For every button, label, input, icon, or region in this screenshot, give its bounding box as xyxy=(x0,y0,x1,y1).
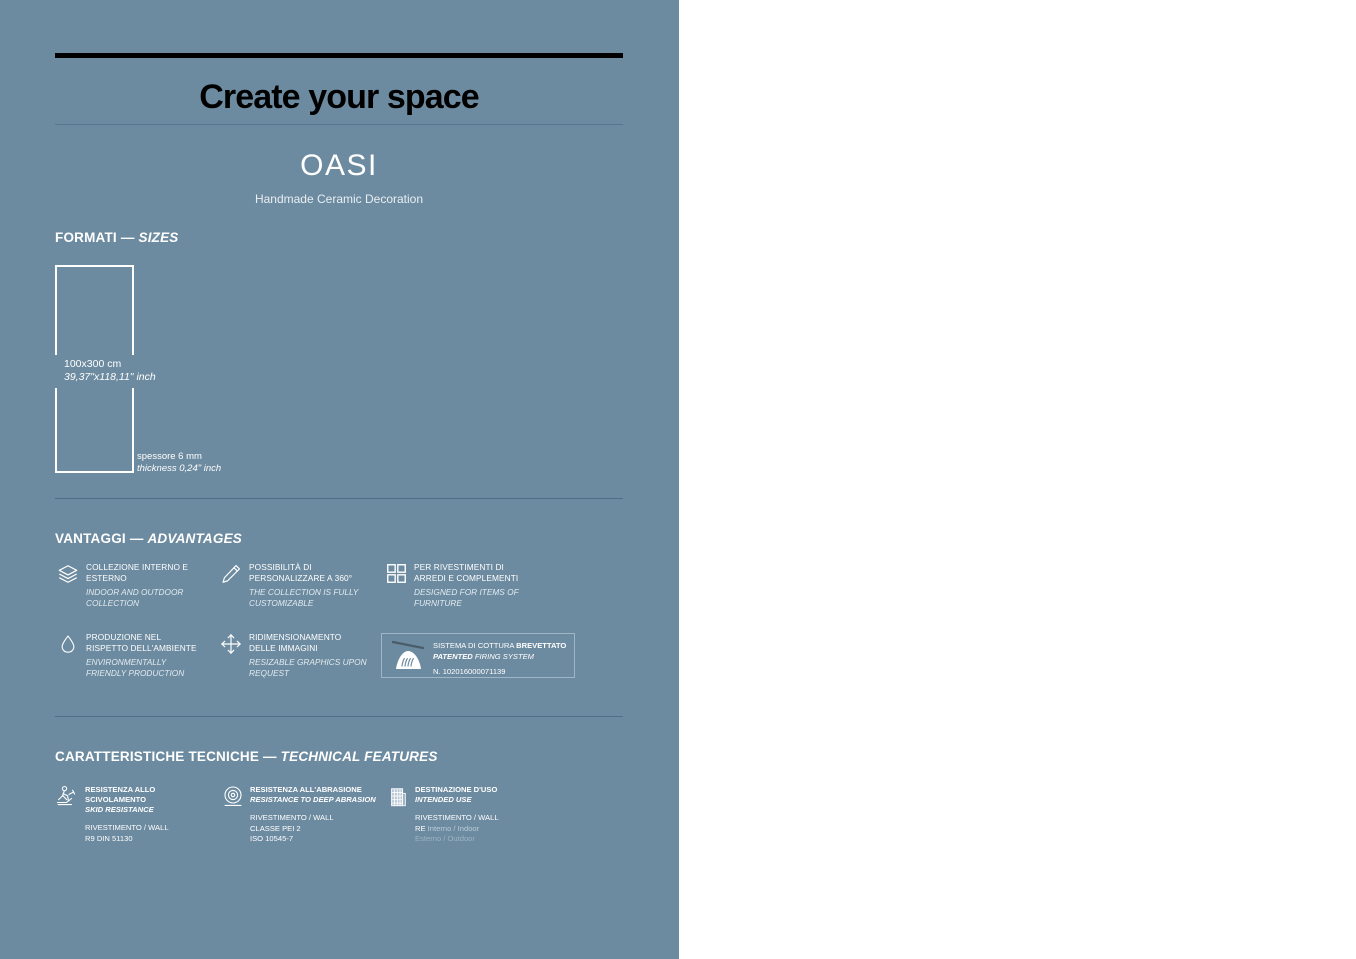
tile-size-diagram: 100x300 cm 39,37"x118,11" inch spessore … xyxy=(55,265,305,475)
advantage-text-environment: PRODUZIONE NEL RISPETTO DELL'AMBIENTE EN… xyxy=(86,632,235,678)
technical-body-line-2: CLASSE PEI 2 xyxy=(250,824,395,835)
patented-firing-system-text: SISTEMA DI COTTURA BREVETTATO PATENTED F… xyxy=(433,641,566,678)
layers-icon xyxy=(55,563,81,591)
patent-en-bold: PATENTED xyxy=(433,652,473,661)
technical-indoor-text: Interno / Indoor xyxy=(426,824,480,833)
four-squares-icon xyxy=(383,563,409,591)
technical-re-prefix: RE xyxy=(415,824,426,833)
advantage-it-line1: COLLEZIONE INTERNO E xyxy=(86,562,235,573)
technical-text-intended-use: DESTINAZIONE D'USO INTENDED USE RIVESTIM… xyxy=(415,785,560,845)
technical-outdoor-text: Esterno / Outdoor xyxy=(415,834,560,845)
building-icon xyxy=(385,785,411,813)
technical-item-skid-resistance: RESISTENZA ALLO SCIVOLAMENTO SKID RESIST… xyxy=(55,785,230,844)
tile-thickness-label: spessore 6 mm thickness 0,24" inch xyxy=(137,451,221,475)
technical-it-line1: RESISTENZA ALL'ABRASIONE xyxy=(250,785,395,795)
section-header-technical: CARATTERISTICHE TECNICHE — TECHNICAL FEA… xyxy=(55,749,438,764)
left-info-panel: Create your space OASI Handmade Ceramic … xyxy=(0,0,679,959)
patented-firing-system-box: SISTEMA DI COTTURA BREVETTATO PATENTED F… xyxy=(381,633,575,678)
technical-en-line1: INTENDED USE xyxy=(415,795,560,805)
patent-line-en: PATENTED FIRING SYSTEM xyxy=(433,652,566,663)
advantage-text-furniture: PER RIVESTIMENTI DI ARREDI E COMPLEMENTI… xyxy=(414,562,563,608)
collection-name: OASI xyxy=(55,148,623,184)
technical-body-abrasion: RIVESTIMENTO / WALL CLASSE PEI 2 ISO 105… xyxy=(250,813,395,845)
advantage-item-resizable: RIDIMENSIONAMENTO DELLE IMMAGINI RESIZAB… xyxy=(218,632,398,678)
skid-resistance-icon xyxy=(55,785,81,813)
advantage-en-line2: CUSTOMIZABLE xyxy=(249,598,398,609)
divider-rule-advantages xyxy=(55,498,623,499)
kiln-icon xyxy=(389,638,429,674)
section-header-advantages-dash: — xyxy=(130,531,144,546)
divider-rule-technical xyxy=(55,716,623,717)
technical-en-line1: SKID RESISTANCE xyxy=(85,805,230,815)
advantage-item-environment: PRODUZIONE NEL RISPETTO DELL'AMBIENTE EN… xyxy=(55,632,235,678)
technical-body-line-2: R9 DIN 51130 xyxy=(85,834,230,845)
advantage-it-line1: PRODUZIONE NEL xyxy=(86,632,235,643)
technical-body-line-indoor: RE Interno / Indoor xyxy=(415,824,560,835)
right-product-page: 1 rivestimento / wall cod. 0145688 2 riv… xyxy=(679,0,1356,959)
section-header-sizes-dash: — xyxy=(121,230,135,245)
technical-body-intended-use: RIVESTIMENTO / WALL RE Interno / Indoor … xyxy=(415,813,560,845)
section-header-sizes-en: SIZES xyxy=(139,230,179,245)
advantage-it-line2: PERSONALIZZARE A 360° xyxy=(249,573,398,584)
advantage-it-line1: PER RIVESTIMENTI DI xyxy=(414,562,563,573)
advantage-item-customizable: POSSIBILITÀ DI PERSONALIZZARE A 360° THE… xyxy=(218,562,398,608)
section-header-advantages: VANTAGGI — ADVANTAGES xyxy=(55,531,242,546)
pencil-icon xyxy=(218,563,244,591)
collection-subtitle: Handmade Ceramic Decoration xyxy=(55,191,623,207)
advantage-it-line1: RIDIMENSIONAMENTO xyxy=(249,632,398,643)
advantage-it-line2: ESTERNO xyxy=(86,573,235,584)
technical-body-line-3: ISO 10545-7 xyxy=(250,834,395,845)
resize-arrows-icon xyxy=(218,633,244,661)
technical-it-line1: DESTINAZIONE D'USO xyxy=(415,785,560,795)
tile-outline-upper xyxy=(55,265,134,355)
tile-thickness-mm: spessore 6 mm xyxy=(137,451,221,463)
tile-dimension-cm: 100x300 cm xyxy=(64,358,156,371)
technical-body-line-1: RIVESTIMENTO / WALL xyxy=(85,823,230,834)
patent-it-bold: BREVETTATO xyxy=(516,641,566,650)
advantage-en-line1: INDOOR AND OUTDOOR xyxy=(86,587,235,598)
tile-thickness-inch: thickness 0,24" inch xyxy=(137,463,221,475)
advantage-en-line2: FURNITURE xyxy=(414,598,563,609)
advantage-en-line2: FRIENDLY PRODUCTION xyxy=(86,668,235,679)
advantage-en-line1: DESIGNED FOR ITEMS OF xyxy=(414,587,563,598)
tile-outline-lower xyxy=(55,388,134,473)
advantage-en-line2: COLLECTION xyxy=(86,598,235,609)
technical-it-line2: SCIVOLAMENTO xyxy=(85,795,230,805)
title-bottom-rule xyxy=(55,124,623,125)
page-title: Create your space xyxy=(55,76,623,118)
advantage-it-line2: ARREDI E COMPLEMENTI xyxy=(414,573,563,584)
technical-body-skid: RIVESTIMENTO / WALL R9 DIN 51130 xyxy=(85,823,230,844)
advantage-item-furniture: PER RIVESTIMENTI DI ARREDI E COMPLEMENTI… xyxy=(383,562,563,608)
section-header-technical-it: CARATTERISTICHE TECNICHE xyxy=(55,749,259,764)
technical-it-line1: RESISTENZA ALLO xyxy=(85,785,230,795)
advantage-text-resizable: RIDIMENSIONAMENTO DELLE IMMAGINI RESIZAB… xyxy=(249,632,398,678)
technical-text-skid-resistance: RESISTENZA ALLO SCIVOLAMENTO SKID RESIST… xyxy=(85,785,230,844)
patent-it-prefix: SISTEMA DI COTTURA xyxy=(433,641,516,650)
technical-en-line1: RESISTANCE TO DEEP ABRASION xyxy=(250,795,395,805)
section-header-technical-en: TECHNICAL FEATURES xyxy=(281,749,438,764)
catalog-page-spread: Create your space OASI Handmade Ceramic … xyxy=(0,0,1356,959)
tile-dimension-label: 100x300 cm 39,37"x118,11" inch xyxy=(64,358,156,384)
section-header-advantages-it: VANTAGGI xyxy=(55,531,126,546)
abrasion-target-icon xyxy=(220,785,246,813)
water-drop-icon xyxy=(55,633,81,661)
tile-dimension-inch: 39,37"x118,11" inch xyxy=(64,371,156,384)
patent-number: N. 102016000071139 xyxy=(433,667,566,678)
advantage-text-customizable: POSSIBILITÀ DI PERSONALIZZARE A 360° THE… xyxy=(249,562,398,608)
title-top-rule xyxy=(55,53,623,58)
advantage-en-line1: RESIZABLE GRAPHICS UPON xyxy=(249,657,398,668)
section-header-sizes: FORMATI — SIZES xyxy=(55,230,179,245)
advantage-en-line1: THE COLLECTION IS FULLY xyxy=(249,587,398,598)
technical-item-intended-use: DESTINAZIONE D'USO INTENDED USE RIVESTIM… xyxy=(385,785,560,845)
advantage-it-line1: POSSIBILITÀ DI xyxy=(249,562,398,573)
section-header-advantages-en: ADVANTAGES xyxy=(147,531,242,546)
patent-line-it: SISTEMA DI COTTURA BREVETTATO xyxy=(433,641,566,652)
advantage-en-line2: REQUEST xyxy=(249,668,398,679)
advantage-it-line2: DELLE IMMAGINI xyxy=(249,643,398,654)
advantage-en-line1: ENVIRONMENTALLY xyxy=(86,657,235,668)
section-header-sizes-it: FORMATI xyxy=(55,230,117,245)
technical-body-line-1: RIVESTIMENTO / WALL xyxy=(250,813,395,824)
technical-body-line-1: RIVESTIMENTO / WALL xyxy=(415,813,560,824)
section-header-technical-dash: — xyxy=(263,749,277,764)
patent-en-rest: FIRING SYSTEM xyxy=(473,652,534,661)
technical-item-abrasion-resistance: RESISTENZA ALL'ABRASIONE RESISTANCE TO D… xyxy=(220,785,395,845)
advantage-text-indoor-outdoor: COLLEZIONE INTERNO E ESTERNO INDOOR AND … xyxy=(86,562,235,608)
advantage-it-line2: RISPETTO DELL'AMBIENTE xyxy=(86,643,235,654)
technical-text-abrasion-resistance: RESISTENZA ALL'ABRASIONE RESISTANCE TO D… xyxy=(250,785,395,845)
advantage-item-indoor-outdoor: COLLEZIONE INTERNO E ESTERNO INDOOR AND … xyxy=(55,562,235,608)
